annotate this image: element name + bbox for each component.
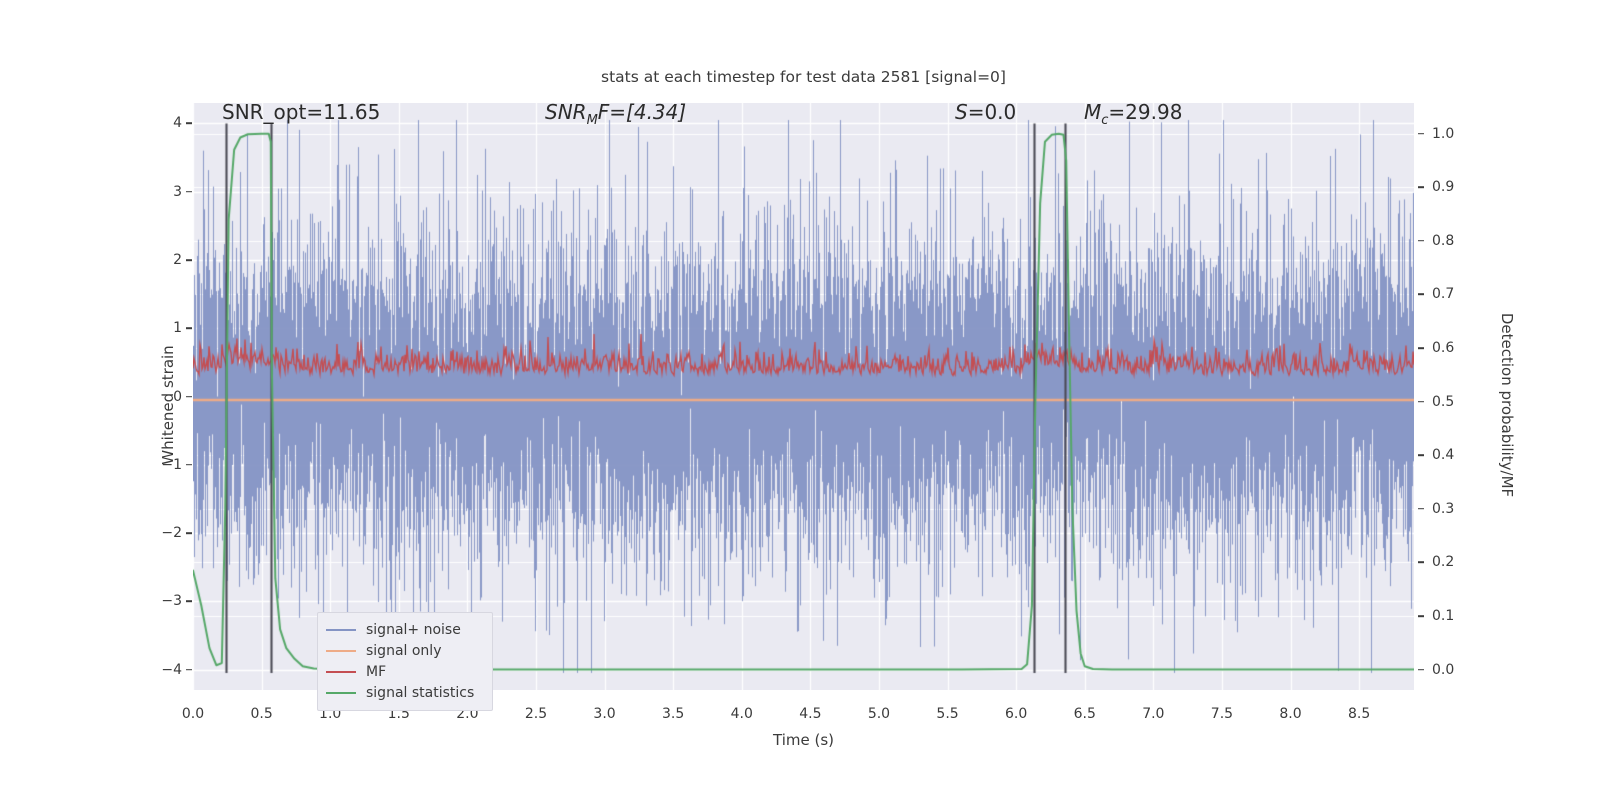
annotation-s-statistic: S=0.0 xyxy=(955,100,1016,124)
tick-mark xyxy=(1418,562,1424,564)
legend: signal+ noisesignal onlyMFsignal statist… xyxy=(317,612,493,711)
legend-swatch xyxy=(326,692,356,694)
y-axis-ticks-left: 43210−1−2−3−4 xyxy=(120,0,182,800)
x-tick: 7.5 xyxy=(1211,706,1233,722)
tick-mark xyxy=(186,669,192,671)
tick-mark xyxy=(1418,401,1424,403)
legend-label: MF xyxy=(366,664,386,680)
y-tick-right: 0.0 xyxy=(1432,662,1454,678)
page-title: stats at each timestep for test data 258… xyxy=(193,68,1414,86)
y-tick-left: 4 xyxy=(122,115,182,131)
legend-swatch xyxy=(326,629,356,631)
tick-mark xyxy=(1418,294,1424,296)
tick-mark xyxy=(186,123,192,125)
tick-mark xyxy=(1418,240,1424,242)
x-tick: 8.5 xyxy=(1348,706,1370,722)
y-tick-right: 1.0 xyxy=(1432,126,1454,142)
y-axis-ticks-right: 1.00.90.80.70.60.50.40.30.20.10.0 xyxy=(1414,0,1484,800)
x-tick: 3.5 xyxy=(662,706,684,722)
y-tick-right: 0.5 xyxy=(1432,394,1454,410)
y-tick-left: −1 xyxy=(122,457,182,473)
x-tick: 0.5 xyxy=(250,706,272,722)
legend-label: signal+ noise xyxy=(366,622,461,638)
y-tick-right: 0.8 xyxy=(1432,233,1454,249)
y-tick-left: −3 xyxy=(122,593,182,609)
x-axis-label: Time (s) xyxy=(193,731,1414,749)
legend-swatch xyxy=(326,650,356,652)
y-tick-right: 0.7 xyxy=(1432,286,1454,302)
tick-mark xyxy=(186,532,192,534)
y-tick-left: 1 xyxy=(122,320,182,336)
plot-area xyxy=(193,103,1414,690)
tick-mark xyxy=(1418,347,1424,349)
tick-mark xyxy=(186,396,192,398)
y-tick-right: 0.4 xyxy=(1432,447,1454,463)
legend-item[interactable]: signal+ noise xyxy=(326,619,484,640)
legend-swatch xyxy=(326,671,356,673)
tick-mark xyxy=(1418,133,1424,135)
y-tick-right: 0.6 xyxy=(1432,340,1454,356)
y-tick-left: −4 xyxy=(122,662,182,678)
tick-mark xyxy=(1418,454,1424,456)
y-tick-right: 0.3 xyxy=(1432,501,1454,517)
tick-mark xyxy=(186,464,192,466)
figure-canvas: stats at each timestep for test data 258… xyxy=(0,0,1600,800)
x-tick: 6.5 xyxy=(1074,706,1096,722)
x-tick: 5.0 xyxy=(868,706,890,722)
y-tick-left: 0 xyxy=(122,389,182,405)
x-tick: 3.0 xyxy=(593,706,615,722)
plot-render-canvas xyxy=(193,103,1414,690)
legend-item[interactable]: signal statistics xyxy=(326,682,484,703)
legend-item[interactable]: signal only xyxy=(326,640,484,661)
y-tick-left: −2 xyxy=(122,525,182,541)
legend-label: signal only xyxy=(366,643,441,659)
tick-mark xyxy=(186,327,192,329)
annotation-snr-mf: SNRMF=[4.34] xyxy=(545,100,686,128)
y-tick-right: 0.9 xyxy=(1432,179,1454,195)
tick-mark xyxy=(186,191,192,193)
annotation-snr-opt: SNR_opt=11.65 xyxy=(222,100,380,124)
x-tick: 2.5 xyxy=(525,706,547,722)
tick-mark xyxy=(1418,508,1424,510)
x-tick: 5.5 xyxy=(936,706,958,722)
x-tick: 4.0 xyxy=(731,706,753,722)
tick-mark xyxy=(186,600,192,602)
x-axis-ticks: 0.00.51.01.52.02.53.03.54.04.55.05.56.06… xyxy=(0,700,1600,730)
x-tick: 0.0 xyxy=(182,706,204,722)
y-tick-left: 3 xyxy=(122,184,182,200)
y-tick-right: 0.2 xyxy=(1432,554,1454,570)
y-tick-right: 0.1 xyxy=(1432,608,1454,624)
tick-mark xyxy=(186,259,192,261)
legend-label: signal statistics xyxy=(366,685,474,701)
legend-item[interactable]: MF xyxy=(326,661,484,682)
tick-mark xyxy=(1418,669,1424,671)
tick-mark xyxy=(1418,186,1424,188)
tick-mark xyxy=(1418,615,1424,617)
y-tick-left: 2 xyxy=(122,252,182,268)
x-tick: 6.0 xyxy=(1005,706,1027,722)
x-tick: 7.0 xyxy=(1142,706,1164,722)
x-tick: 8.0 xyxy=(1279,706,1301,722)
x-tick: 4.5 xyxy=(799,706,821,722)
annotation-chirp-mass: Mc=29.98 xyxy=(1084,100,1182,128)
